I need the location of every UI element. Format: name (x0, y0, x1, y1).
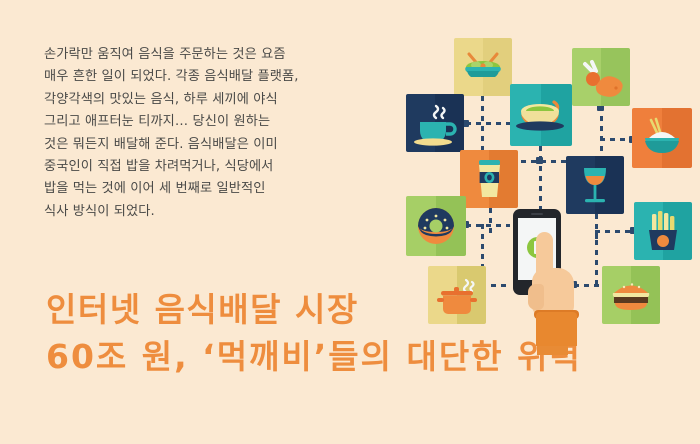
connector-line-horizontal-fries (595, 230, 635, 233)
tile-french-fries[interactable] (634, 202, 692, 260)
tile-soup-bowl[interactable] (510, 84, 572, 146)
tile-rice-bowl[interactable] (632, 108, 692, 168)
tile-coffee-cup[interactable] (406, 94, 464, 152)
sleeve (536, 312, 577, 346)
poster-root: 손가락만 움직여 음식을 주문하는 것은 요즘 매우 흔한 일이 되었다. 각종… (0, 0, 700, 444)
coffee-cup-icon (406, 94, 464, 152)
tile-donut[interactable] (406, 196, 466, 256)
connector-line-vertical-right-branch (595, 230, 598, 286)
connector-line-horizontal-donut (466, 224, 510, 227)
cooking-pot-icon (428, 266, 486, 324)
tile-salad-bowl[interactable] (454, 38, 512, 96)
tile-wine-glass[interactable] (566, 156, 624, 214)
thumb (528, 284, 544, 310)
connector-line-vertical-turkey (600, 106, 603, 162)
soup-bowl-icon (510, 84, 572, 146)
tile-cooking-pot[interactable] (428, 266, 486, 324)
tile-roast-turkey[interactable] (572, 48, 630, 106)
wine-glass-icon (566, 156, 624, 214)
pointing-hand (528, 232, 584, 344)
phone-speaker-icon (531, 213, 543, 215)
hamburger-icon (602, 266, 660, 324)
coffee-togo-cup-icon (460, 150, 518, 208)
salad-bowl-icon (454, 38, 512, 96)
rice-bowl-icon (632, 108, 692, 168)
connector-line-vertical-togo (489, 208, 492, 236)
connector-line-horizontal-coffee (466, 122, 510, 125)
food-delivery-illustration (396, 14, 700, 344)
donut-icon (406, 196, 466, 256)
body-copy-paragraph: 손가락만 움직여 음식을 주문하는 것은 요즘 매우 흔한 일이 되었다. 각종… (44, 44, 394, 223)
tile-hamburger[interactable] (602, 266, 660, 324)
french-fries-icon (634, 202, 692, 260)
tile-coffee-togo[interactable] (460, 150, 518, 208)
roast-turkey-icon (572, 48, 630, 106)
connector-node-center-top (536, 157, 543, 164)
